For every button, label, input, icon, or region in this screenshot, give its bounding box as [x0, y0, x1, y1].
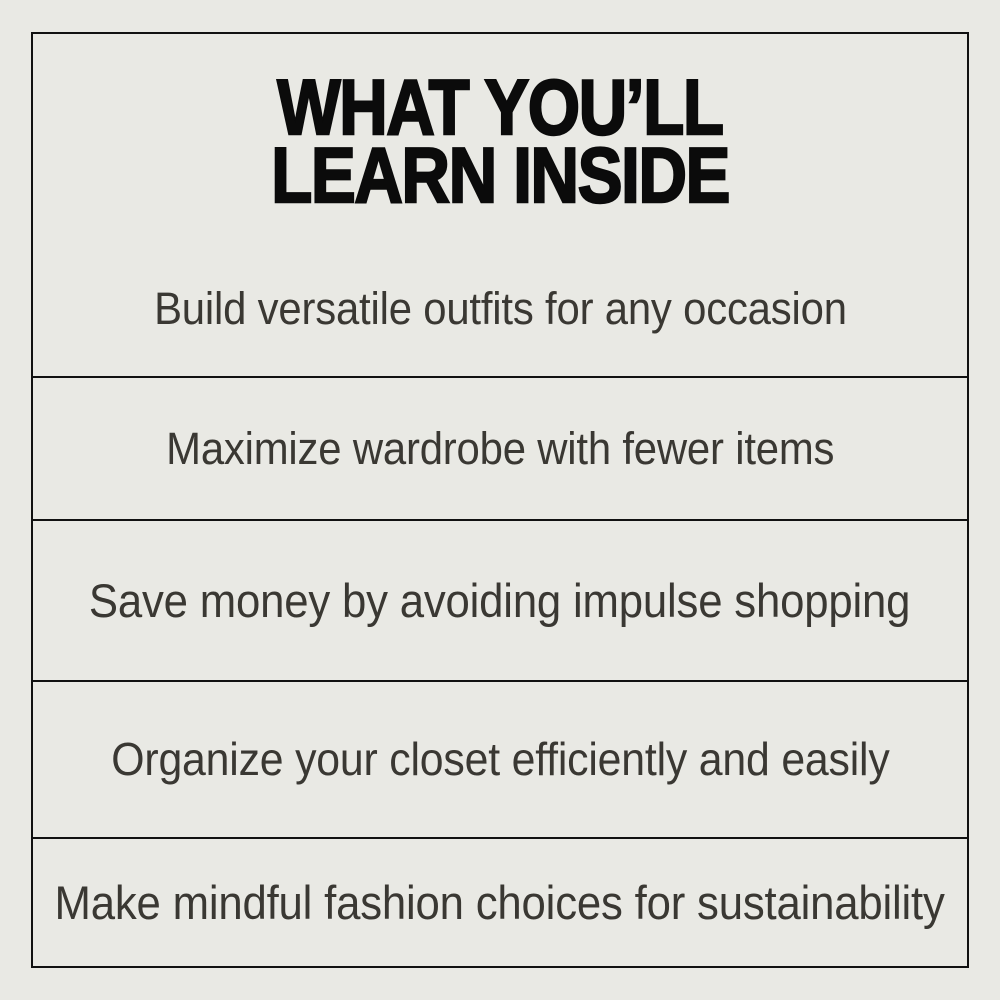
card-title-block: WHAT YOU’LL LEARN INSIDE: [33, 34, 967, 242]
page-title-line-2: LEARN INSIDE: [271, 142, 729, 210]
list-item-label: Maximize wardrobe with fewer items: [166, 424, 834, 474]
list-item: Save money by avoiding impulse shopping: [33, 519, 967, 680]
list-item-label: Build versatile outfits for any occasion: [154, 284, 847, 334]
list-item: Make mindful fashion choices for sustain…: [33, 837, 967, 966]
list-item: Build versatile outfits for any occasion: [33, 242, 967, 376]
list-item: Organize your closet efficiently and eas…: [33, 680, 967, 837]
learn-inside-card: WHAT YOU’LL LEARN INSIDE Build versatile…: [31, 32, 969, 968]
list-item-label: Organize your closet efficiently and eas…: [111, 734, 889, 785]
list-item-label: Save money by avoiding impulse shopping: [89, 575, 910, 627]
list-item: Maximize wardrobe with fewer items: [33, 376, 967, 519]
benefit-list: Build versatile outfits for any occasion…: [33, 242, 967, 966]
list-item-label: Make mindful fashion choices for sustain…: [55, 877, 945, 929]
